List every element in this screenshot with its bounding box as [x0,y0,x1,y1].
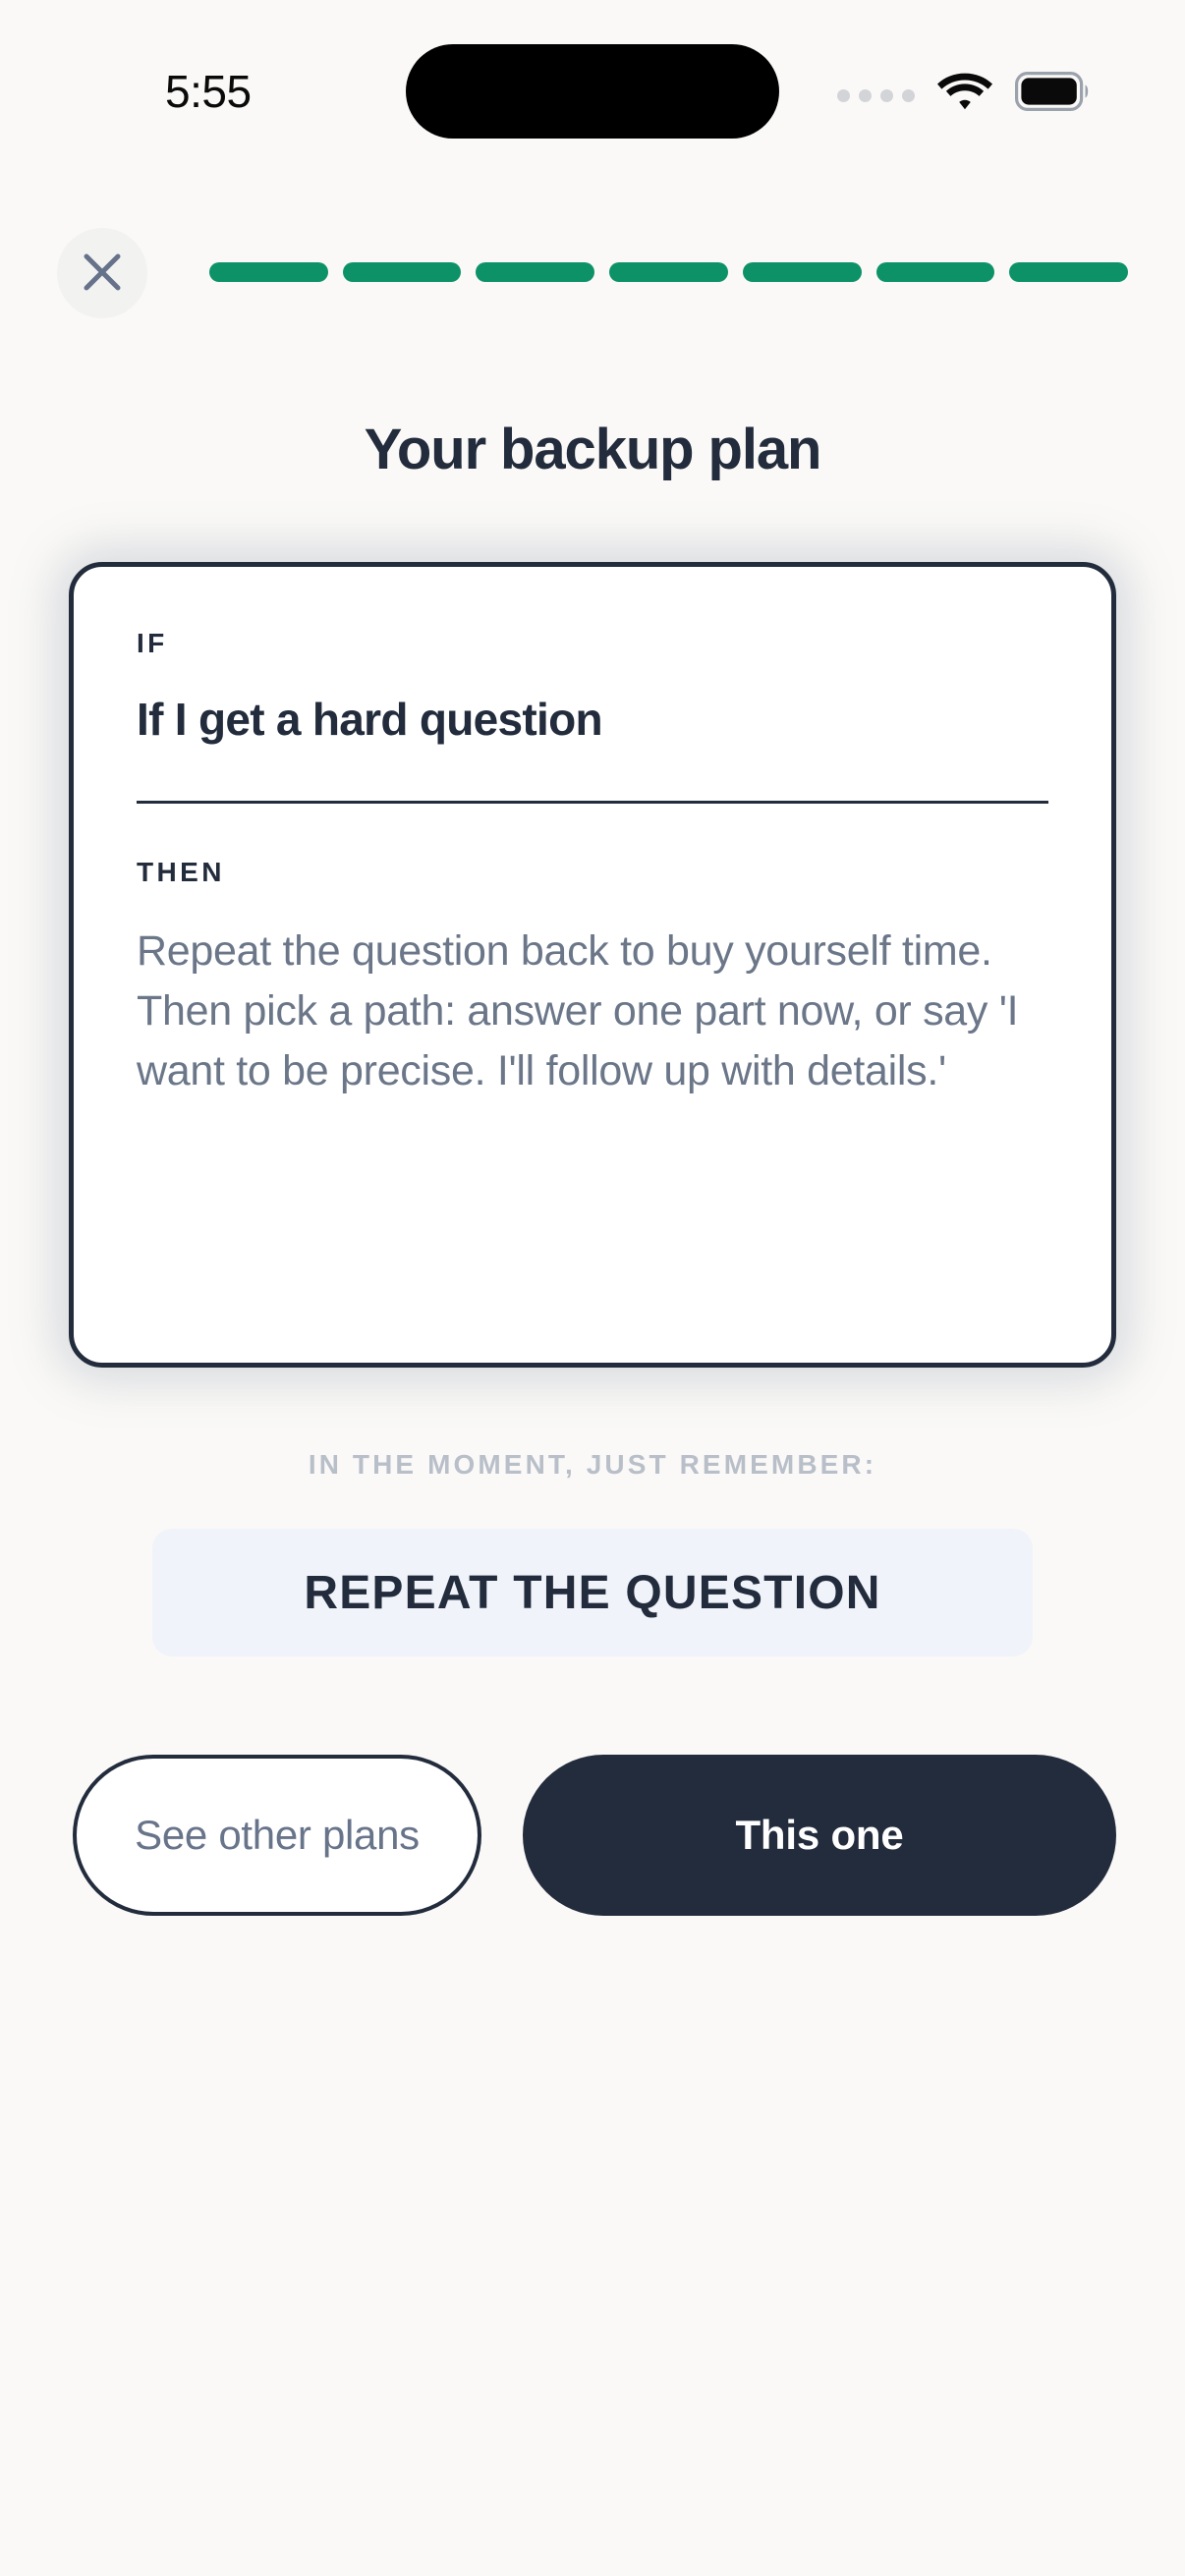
progress-segment [343,262,462,282]
close-icon [82,252,123,296]
see-other-plans-button[interactable]: See other plans [73,1755,481,1916]
progress-segment [209,262,328,282]
progress-segment [476,262,594,282]
remember-label: IN THE MOMENT, JUST REMEMBER: [0,1449,1185,1481]
then-section: THEN Repeat the question back to buy you… [137,857,1048,1101]
progress-segment [876,262,995,282]
action-buttons: See other plans This one [73,1755,1116,1916]
then-action-text: Repeat the question back to buy yourself… [137,922,1048,1101]
progress-segment [743,262,862,282]
if-condition-text: If I get a hard question [137,693,1048,747]
page-title: Your backup plan [0,417,1185,482]
wifi-icon [936,71,993,112]
dynamic-island [406,44,779,139]
status-bar: 5:55 [0,0,1185,167]
progress-segment [1009,262,1128,282]
card-divider [137,801,1048,804]
status-bar-indicators [837,71,1092,112]
if-label: IF [137,628,1048,659]
cellular-dots-icon [837,89,915,102]
mantra-text: REPEAT THE QUESTION [304,1566,880,1620]
close-button[interactable] [57,228,147,318]
progress-segment [609,262,728,282]
this-one-button[interactable]: This one [523,1755,1116,1916]
plan-card: IF If I get a hard question THEN Repeat … [69,562,1116,1368]
battery-full-icon [1015,72,1092,111]
status-bar-time: 5:55 [165,65,252,118]
progress-indicator [209,262,1128,282]
mantra-box: REPEAT THE QUESTION [152,1529,1033,1656]
then-label: THEN [137,857,1048,888]
